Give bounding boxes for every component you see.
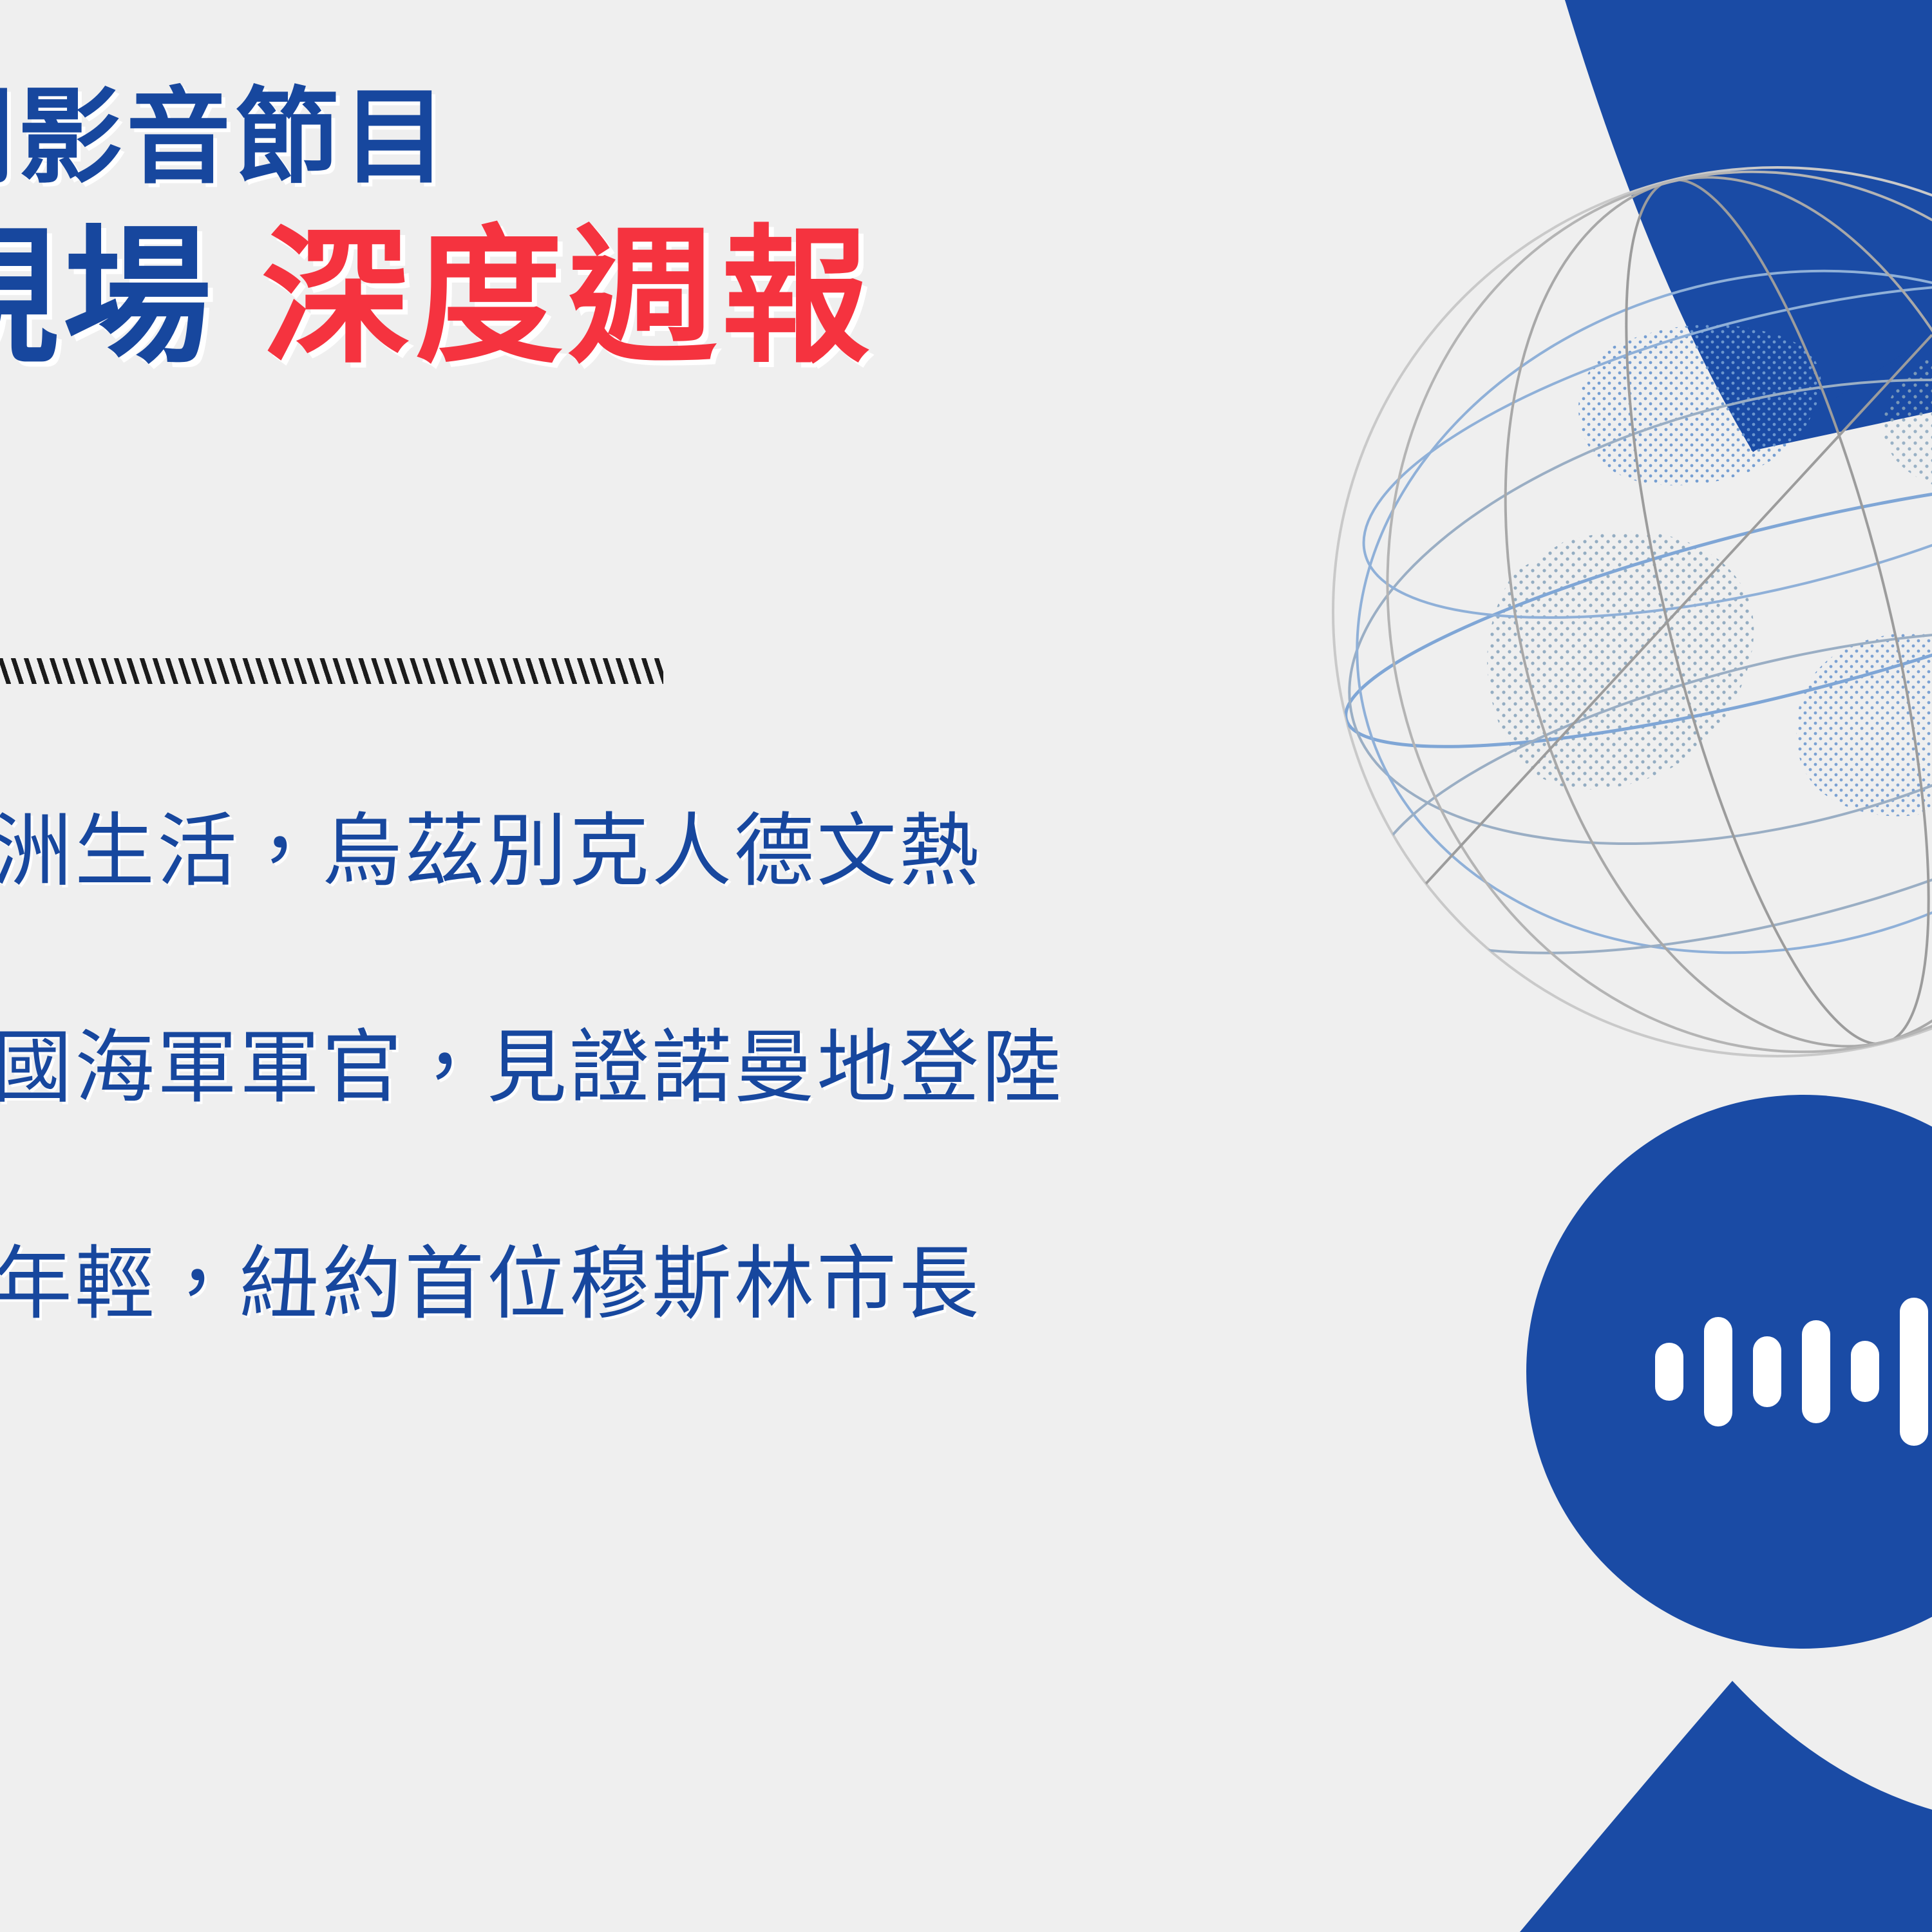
program-headline: 現場深度週報 <box>0 213 875 383</box>
topic-item-1: 歐洲生活，烏茲別克人德文熱 <box>0 811 1404 891</box>
text-content: 聞影音節目 現場深度週報 歐洲生活，烏茲別克人德文熱 民國海軍軍官，見證諾曼地登… <box>0 0 1455 1932</box>
topic-list: 歐洲生活，烏茲別克人德文熱 民國海軍軍官，見證諾曼地登陸 最年輕，紐約首位穆斯林… <box>0 811 1404 1324</box>
hatched-divider <box>0 658 663 684</box>
promo-banner: 聞影音節目 現場深度週報 歐洲生活，烏茲別克人德文熱 民國海軍軍官，見證諾曼地登… <box>0 0 1932 1932</box>
audio-waveform-icon <box>1655 1298 1932 1446</box>
blue-wedge-bottom-right <box>1520 1681 1932 1932</box>
blue-wedge-top-right <box>1565 0 1932 451</box>
headline-red-part: 深度週報 <box>261 214 875 380</box>
topic-item-2: 民國海軍軍官，見證諾曼地登陸 <box>0 1028 1404 1108</box>
topic-item-3: 最年輕，紐約首位穆斯林市長 <box>0 1244 1404 1324</box>
blue-wedge-top-right-fill <box>1565 0 1932 452</box>
audio-waveform-badge <box>1526 1095 1932 1649</box>
headline-blue-part: 現場 <box>0 214 216 380</box>
program-eyebrow: 聞影音節目 <box>0 76 451 199</box>
